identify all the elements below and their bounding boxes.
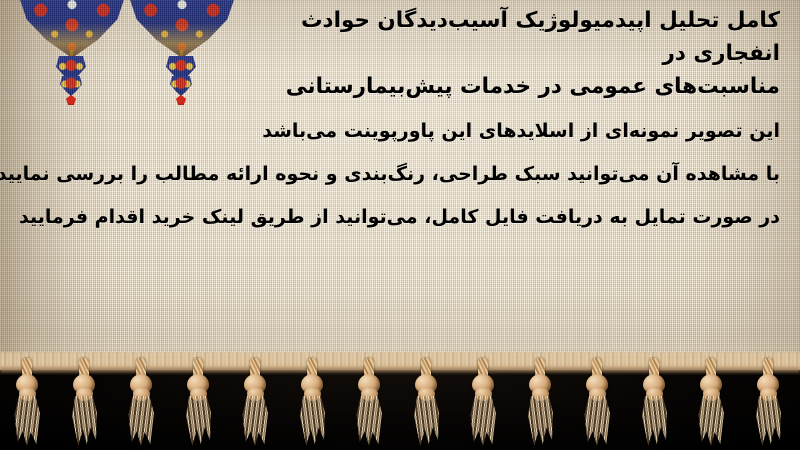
tassel [295,358,329,450]
tassel [751,358,785,450]
tassel-strands [413,396,439,446]
tassel-strands [128,396,154,446]
tassel-strands [71,396,97,446]
tassel-strands [470,396,496,446]
tassel [466,358,500,450]
tassel [238,358,272,450]
tassel [67,358,101,450]
tassel-strands [185,396,211,446]
body-line-3: در صورت تمایل به دریافت فایل کامل، می‌تو… [18,196,780,239]
tassel-strands [242,396,268,446]
tassel [523,358,557,450]
tassel [10,358,44,450]
tassel [124,358,158,450]
tassel-fringe [0,358,800,450]
tassel-strands [584,396,610,446]
tassel [694,358,728,450]
slide-canvas: کامل تحلیل اپیدمیولوژیک آسیب‌دیدگان حواد… [0,0,800,450]
tassel-strands [299,396,325,446]
tassel-strands [527,396,553,446]
tassel-strands [755,396,781,446]
page-title: کامل تحلیل اپیدمیولوژیک آسیب‌دیدگان حواد… [220,4,780,103]
tassel [181,358,215,450]
tassel-strands [641,396,667,446]
tassel [637,358,671,450]
title-line-1: کامل تحلیل اپیدمیولوژیک آسیب‌دیدگان حواد… [220,4,780,70]
body-text: این تصویر نمونه‌ای از اسلایدهای این پاور… [18,110,780,239]
tassel-strands [698,396,724,446]
tassel [580,358,614,450]
tassel [352,358,386,450]
text-layer: کامل تحلیل اپیدمیولوژیک آسیب‌دیدگان حواد… [0,0,800,372]
tassel-strands [356,396,382,446]
body-line-1: این تصویر نمونه‌ای از اسلایدهای این پاور… [18,110,780,153]
tassel [409,358,443,450]
tassel-strands [14,396,40,446]
title-line-2: مناسبت‌های عمومی در خدمات پیش‌بیمارستانی [220,70,780,103]
body-line-2: با مشاهده آن می‌توانید سبک طراحی، رنگ‌بن… [18,153,780,196]
